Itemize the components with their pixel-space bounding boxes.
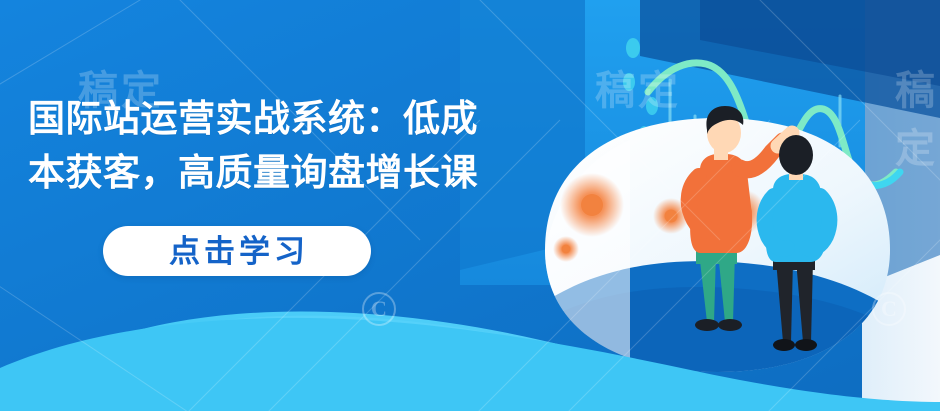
banner-illustration [0,0,940,411]
left-shoe-b [718,319,742,331]
left-shoe-a [695,319,719,331]
cta-button-label: 点击学习 [165,236,309,267]
right-shoe-a [773,339,795,351]
course-banner: 国际站运营实战系统：低成 本获客，高质量询盘增长课 点击学习 稿定 稿定 稿定 … [0,0,940,411]
headline-block: 国际站运营实战系统：低成 本获客，高质量询盘增长课 [28,92,628,200]
right-head-hair [779,135,813,175]
cta-learn-button[interactable]: 点击学习 [103,226,371,276]
bubble-2 [623,73,635,91]
page-title: 国际站运营实战系统：低成 本获客，高质量询盘增长课 [28,92,628,200]
right-shoe-b [795,339,817,351]
bubble-3 [646,97,658,115]
bubble-1 [626,38,640,58]
